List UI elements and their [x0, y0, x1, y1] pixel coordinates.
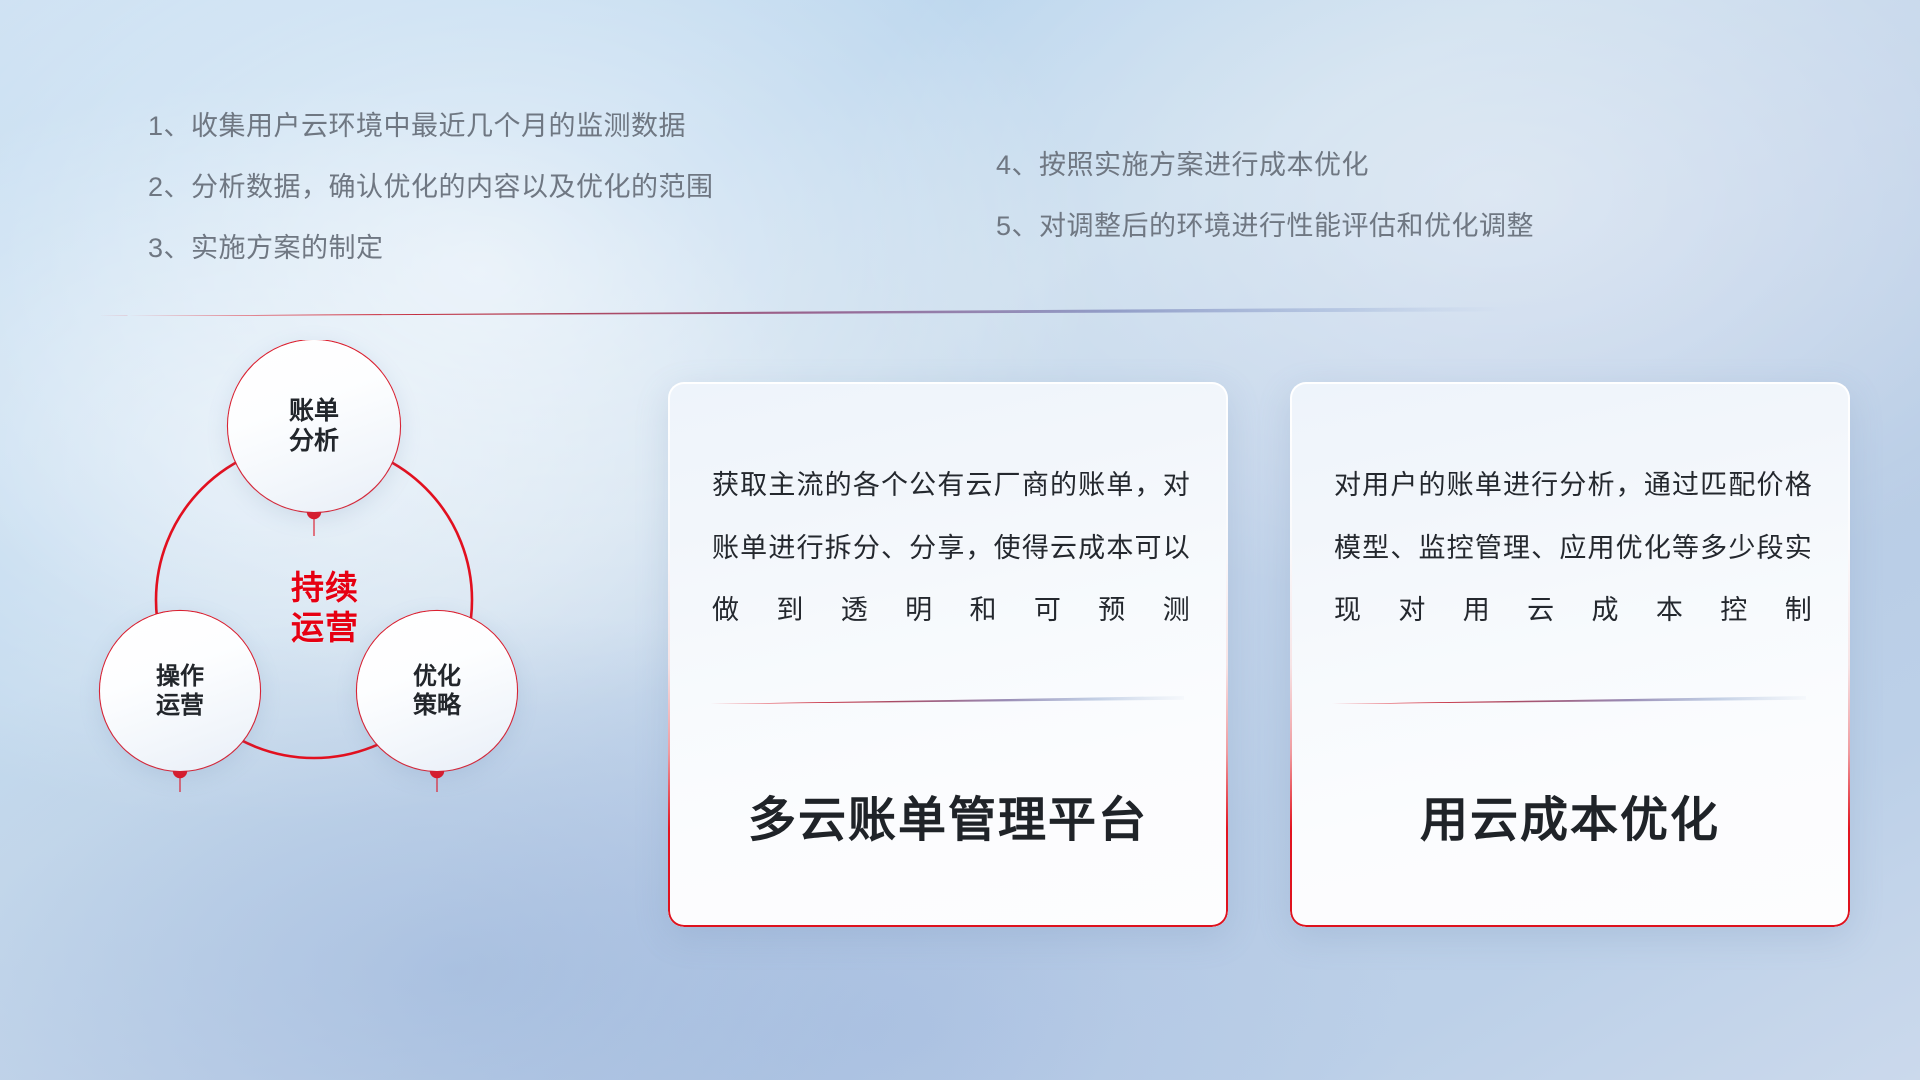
- steps-right-column: 4、按照实施方案进行成本优化 5、对调整后的环境进行性能评估和优化调整: [996, 152, 1534, 240]
- card-2-title: 用云成本优化: [1290, 780, 1850, 850]
- bubble-bill-analysis[interactable]: 账单 分析: [228, 340, 400, 512]
- bubble-bill-analysis-line1: 账单: [289, 396, 339, 427]
- bubble-optimization-strategy-line1: 优化: [413, 662, 461, 691]
- step-item-4: 4、按照实施方案进行成本优化: [996, 152, 1534, 179]
- card-1-title: 多云账单管理平台: [668, 780, 1228, 850]
- step-item-1: 1、收集用户云环境中最近几个月的监测数据: [148, 113, 714, 140]
- step-item-5: 5、对调整后的环境进行性能评估和优化调整: [996, 213, 1534, 240]
- diagram-center-label: 持续 运营: [240, 568, 410, 647]
- bubble-operation-management[interactable]: 操作 运营: [100, 611, 260, 771]
- card-multi-cloud-bill-platform[interactable]: 获取主流的各个公有云厂商的账单，对账单进行拆分、分享，使得云成本可以做到透明和可…: [668, 382, 1228, 927]
- center-label-line1: 持续: [240, 568, 410, 608]
- card-2-body: 对用户的账单进行分析，通过匹配价格模型、监控管理、应用优化等多少段实现对用云成本…: [1334, 454, 1812, 642]
- step-item-3: 3、实施方案的制定: [148, 235, 714, 262]
- section-divider: [98, 307, 1508, 316]
- step-item-2: 2、分析数据，确认优化的内容以及优化的范围: [148, 174, 714, 201]
- continuous-operation-diagram: 账单 分析 操作 运营 优化 策略 持续 运营: [80, 340, 660, 950]
- center-label-line2: 运营: [240, 608, 410, 648]
- steps-left-column: 1、收集用户云环境中最近几个月的监测数据 2、分析数据，确认优化的内容以及优化的…: [148, 113, 714, 262]
- card-2-divider: [1332, 696, 1806, 704]
- bubble-operation-management-line2: 运营: [156, 691, 204, 720]
- card-cloud-cost-optimization[interactable]: 对用户的账单进行分析，通过匹配价格模型、监控管理、应用优化等多少段实现对用云成本…: [1290, 382, 1850, 927]
- card-2-description: 对用户的账单进行分析，通过匹配价格模型、监控管理、应用优化等多少段实现对用云成本…: [1334, 454, 1812, 642]
- card-1-divider: [710, 696, 1184, 704]
- bubble-bill-analysis-line2: 分析: [289, 426, 339, 457]
- card-1-body: 获取主流的各个公有云厂商的账单，对账单进行拆分、分享，使得云成本可以做到透明和可…: [712, 454, 1190, 642]
- slide-canvas: 1、收集用户云环境中最近几个月的监测数据 2、分析数据，确认优化的内容以及优化的…: [0, 0, 1920, 1080]
- bubble-optimization-strategy-line2: 策略: [413, 691, 461, 720]
- card-1-description: 获取主流的各个公有云厂商的账单，对账单进行拆分、分享，使得云成本可以做到透明和可…: [712, 454, 1190, 642]
- bubble-operation-management-line1: 操作: [156, 662, 204, 691]
